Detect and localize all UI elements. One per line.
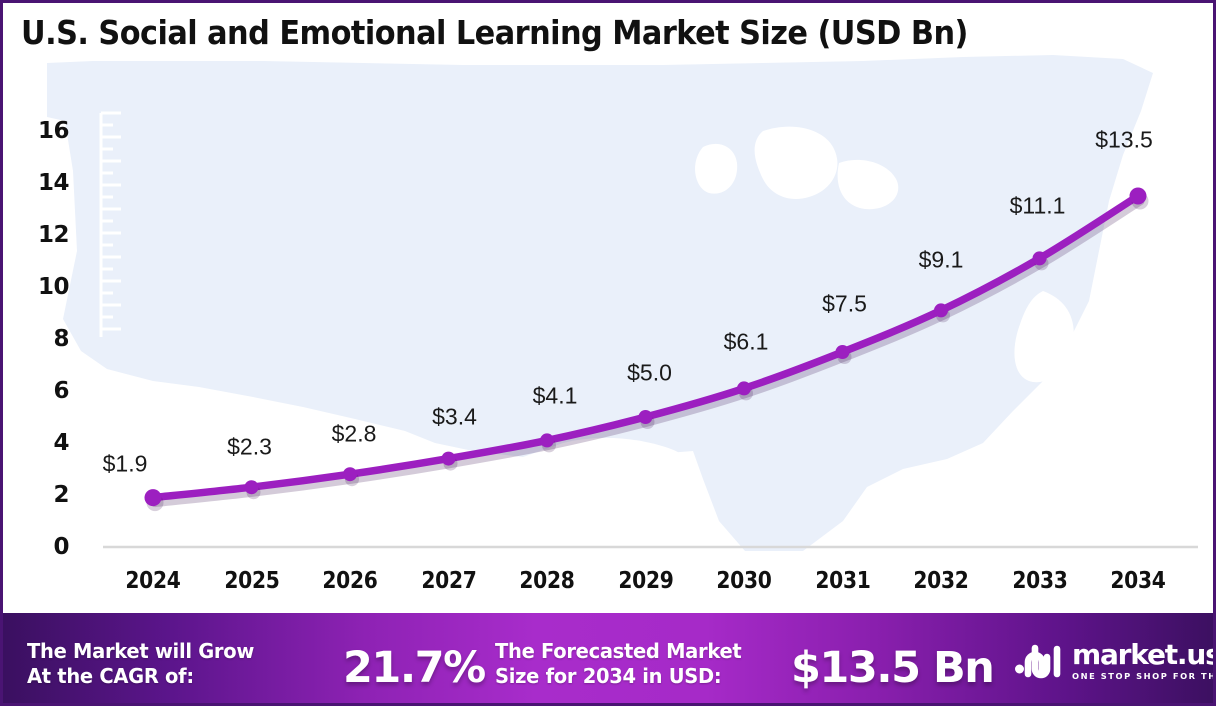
data-point-label: $11.1 (1010, 193, 1066, 220)
x-axis-tick-label: 2025 (203, 568, 300, 594)
data-point-label: $2.8 (332, 421, 377, 448)
x-axis-tick-label: 2034 (1090, 568, 1187, 594)
x-axis-tick-label: 2024 (105, 568, 202, 594)
cagr-label-line1: The Market will Grow (27, 639, 254, 664)
y-axis-tick-label: 10 (17, 274, 69, 300)
y-axis-tick-label: 8 (17, 326, 69, 352)
data-point[interactable] (639, 410, 653, 424)
data-point-label: $6.1 (724, 329, 769, 356)
forecast-label-line1: The Forecasted Market (495, 639, 741, 664)
data-point[interactable] (934, 303, 948, 317)
logo-wordmark: market.us ONE STOP SHOP FOR THE REPORTS (1072, 641, 1213, 680)
y-axis-tick-label: 14 (17, 170, 69, 196)
logo-name: market.us (1072, 641, 1213, 669)
x-axis-tick-label: 2027 (400, 568, 497, 594)
data-point-label: $9.1 (919, 247, 964, 274)
y-axis-tick-label: 0 (17, 534, 69, 560)
data-point-label: $13.5 (1095, 127, 1153, 154)
market-us-logo-icon (1015, 643, 1063, 679)
line-chart: 0246810121416 20242025202620272028202920… (3, 3, 1213, 603)
x-axis-tick-label: 2032 (893, 568, 990, 594)
cagr-value: 21.7% (343, 643, 485, 693)
data-point-label: $7.5 (822, 291, 867, 318)
infographic-root: U.S. Social and Emotional Learning Marke… (0, 0, 1216, 706)
y-axis-tick-label: 16 (17, 118, 69, 144)
y-axis-tick-label: 2 (17, 482, 69, 508)
footer-banner: The Market will Grow At the CAGR of: 21.… (3, 613, 1213, 703)
data-point-label: $5.0 (627, 360, 672, 387)
data-point[interactable] (1033, 251, 1047, 265)
data-point[interactable] (343, 467, 357, 481)
cagr-label-line2: At the CAGR of: (27, 664, 254, 689)
y-axis-tick-label: 6 (17, 378, 69, 404)
data-point[interactable] (145, 489, 162, 506)
forecast-label: The Forecasted Market Size for 2034 in U… (495, 639, 741, 689)
x-axis-tick-label: 2028 (499, 568, 596, 594)
cagr-label: The Market will Grow At the CAGR of: (27, 639, 254, 689)
series-layer (145, 188, 1149, 512)
market-us-logo[interactable]: market.us ONE STOP SHOP FOR THE REPORTS (1015, 641, 1213, 680)
data-point[interactable] (540, 433, 554, 447)
forecast-value: $13.5 Bn (791, 643, 993, 693)
forecast-label-line2: Size for 2034 in USD: (495, 664, 741, 689)
x-axis-tick-label: 2026 (302, 568, 399, 594)
data-point-label: $2.3 (227, 434, 272, 461)
x-axis-tick-label: 2029 (597, 568, 694, 594)
data-point[interactable] (1130, 188, 1147, 205)
x-axis-tick-label: 2031 (794, 568, 891, 594)
series-line (153, 196, 1138, 498)
data-point[interactable] (245, 480, 259, 494)
data-point[interactable] (442, 452, 456, 466)
x-axis-tick-label: 2033 (991, 568, 1088, 594)
x-axis-tick-label: 2030 (696, 568, 793, 594)
data-point-label: $3.4 (432, 403, 477, 430)
data-point-label: $4.1 (533, 383, 578, 410)
data-point[interactable] (836, 345, 850, 359)
y-axis-tick-label: 12 (17, 222, 69, 248)
data-point-label: $1.9 (103, 450, 148, 477)
data-point[interactable] (737, 381, 751, 395)
logo-tagline: ONE STOP SHOP FOR THE REPORTS (1072, 672, 1213, 680)
y-axis-tick-label: 4 (17, 430, 69, 456)
series-line-shadow (155, 201, 1140, 503)
